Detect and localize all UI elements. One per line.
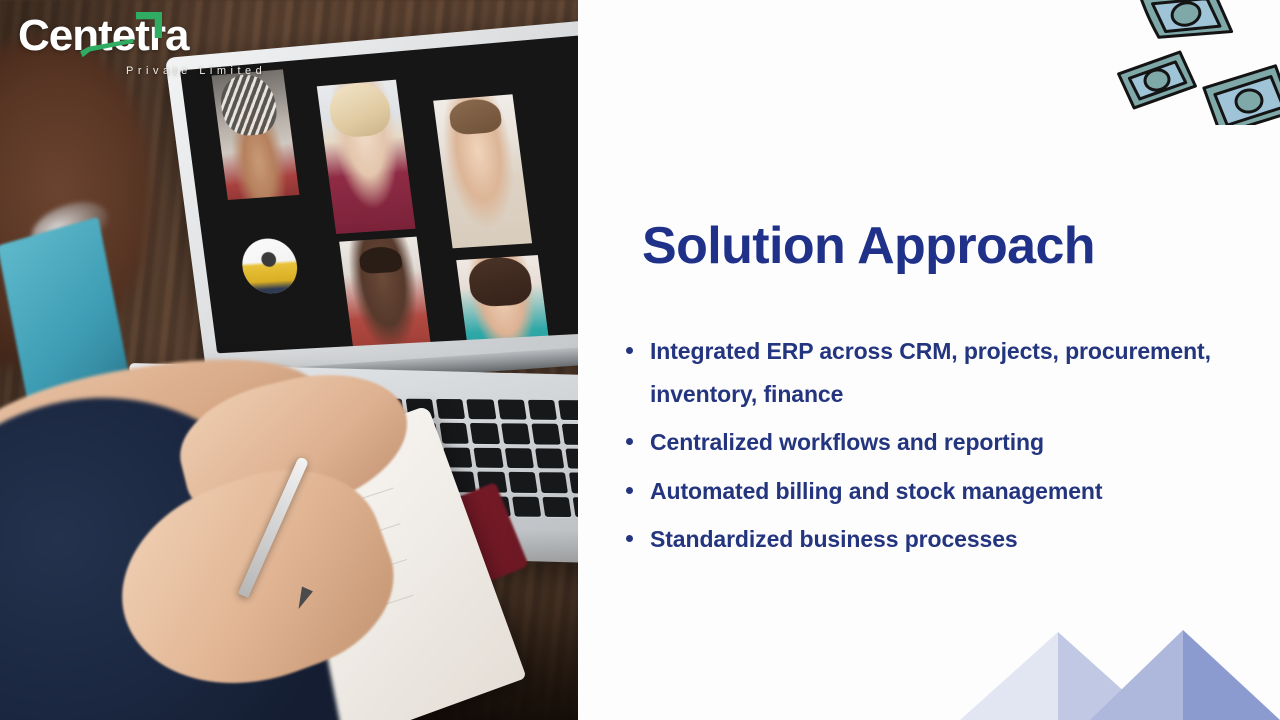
bullet-item-4: Standardized business processes	[618, 518, 1258, 561]
bullet-item-1: Integrated ERP across CRM, projects, pro…	[618, 330, 1258, 415]
laptop-screen-video-call	[180, 35, 578, 353]
participant-tile-1	[211, 69, 299, 200]
brand-logo: Centetra Private Limited	[18, 14, 266, 77]
photo-panel: Centetra Private Limited	[0, 0, 578, 720]
participant-tile-2	[317, 80, 416, 234]
presentation-slide: Centetra Private Limited	[0, 0, 1280, 720]
participant-tile-5	[339, 237, 433, 354]
bullet-item-3: Automated billing and stock management	[618, 470, 1258, 513]
participant-tile-3	[433, 94, 532, 248]
bullet-list: Integrated ERP across CRM, projects, pro…	[618, 330, 1258, 567]
content-panel: Solution Approach Integrated ERP across …	[578, 0, 1280, 720]
participant-tile-4-avatar	[239, 237, 300, 295]
brand-tagline: Private Limited	[126, 65, 266, 77]
page-title: Solution Approach	[642, 218, 1095, 275]
floating-banknotes-decoration	[1110, 0, 1280, 125]
mountain-decoration	[940, 628, 1280, 720]
bullet-item-2: Centralized workflows and reporting	[618, 421, 1258, 464]
brand-name: Centetra	[18, 14, 266, 58]
participant-tile-6	[456, 255, 553, 353]
